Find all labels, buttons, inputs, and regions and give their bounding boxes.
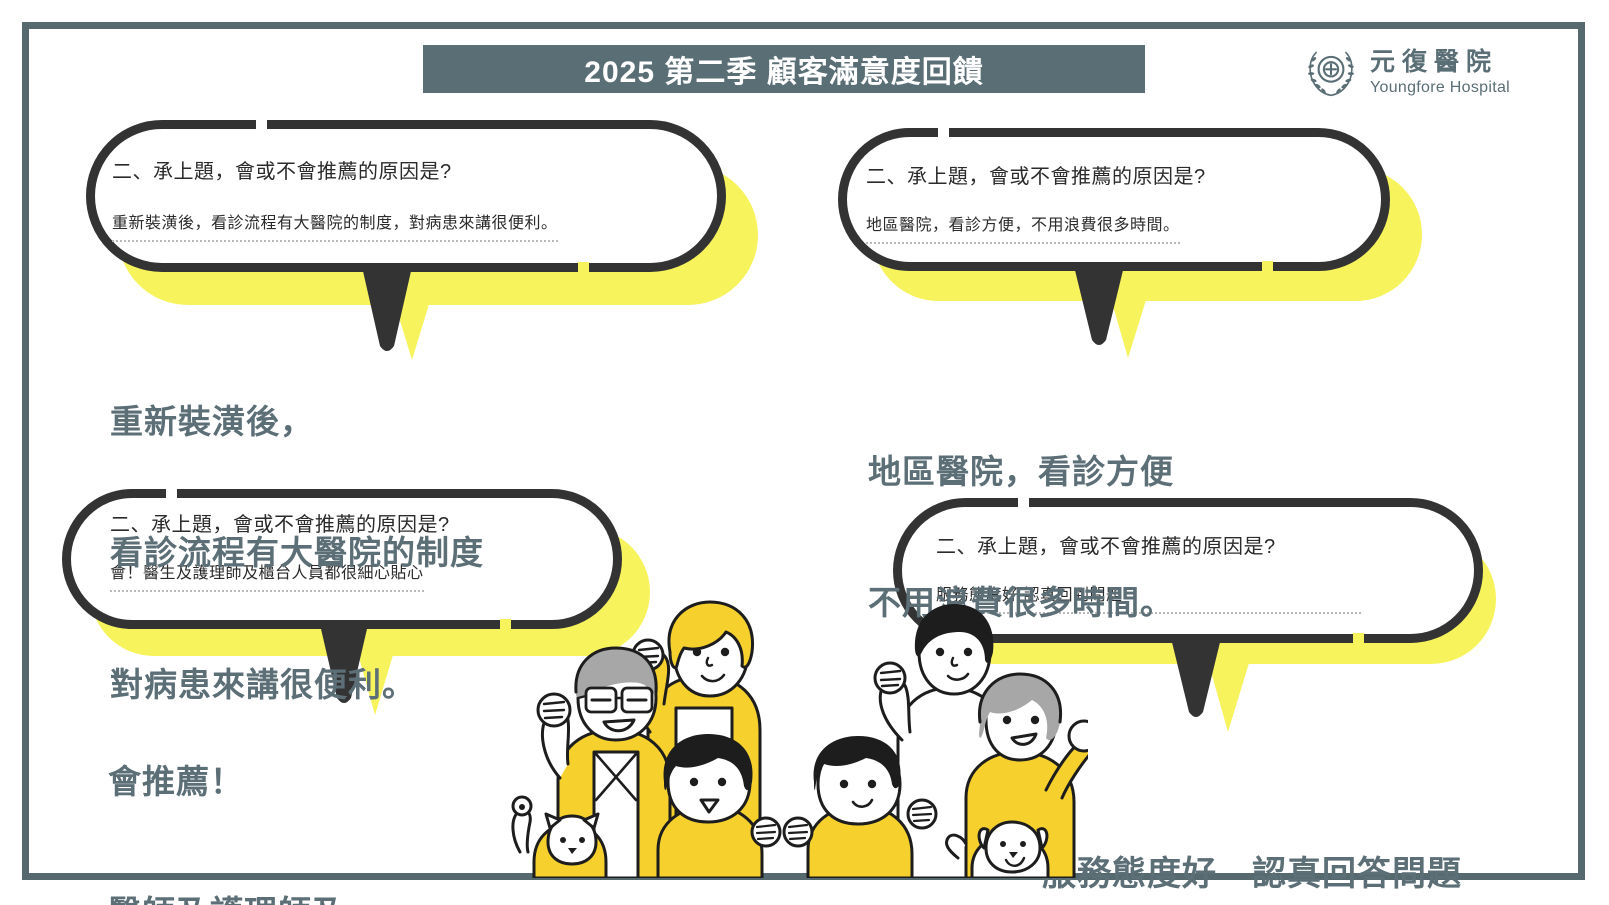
bubble-notch-top bbox=[256, 117, 267, 130]
answer-text: 重新裝潢後，看診流程有大醫院的制度，對病患來講很便利。 bbox=[112, 209, 558, 242]
question-text: 二、承上題，會或不會推薦的原因是? bbox=[112, 155, 712, 184]
pull-quote: 服務態度好 認真回答問題 bbox=[1042, 762, 1462, 905]
pull-quote-line: 重新裝潢後， bbox=[110, 400, 484, 444]
pull-quote-line: 會推薦！ bbox=[108, 760, 448, 804]
bubble-notch-top bbox=[938, 125, 949, 138]
bubble-notch-bottom bbox=[578, 262, 589, 275]
pull-quote-line: 看診流程有大醫院的制度 bbox=[110, 531, 484, 575]
question-text: 二、承上題，會或不會推薦的原因是? bbox=[866, 160, 1386, 189]
bubble-tail bbox=[1165, 630, 1227, 722]
bubble-text: 二、承上題，會或不會推薦的原因是? 地區醫院，看診方便，不用浪費很多時間。 bbox=[866, 160, 1386, 244]
bubble-notch-bottom bbox=[1353, 633, 1364, 646]
answer-text: 地區醫院，看診方便，不用浪費很多時間。 bbox=[866, 211, 1180, 244]
bubble-tail bbox=[1068, 258, 1130, 350]
bubble-notch-bottom bbox=[1262, 261, 1273, 274]
bubble-text: 二、承上題，會或不會推薦的原因是? 重新裝潢後，看診流程有大醫院的制度，對病患來… bbox=[112, 155, 712, 242]
pull-quote-line: 醫師及護理師及 bbox=[108, 891, 448, 905]
poster-canvas: 2025 第二季 顧客滿意度回饋 bbox=[0, 0, 1609, 905]
pull-quote-line: 服務態度好 認真回答問題 bbox=[1042, 852, 1462, 897]
pull-quote-line: 地區醫院，看診方便 bbox=[868, 450, 1174, 494]
pull-quote: 會推薦！ 醫師及護理師及 櫃檯人員都很細心貼心 bbox=[108, 672, 448, 905]
cheering-family-illustration bbox=[498, 600, 1088, 878]
